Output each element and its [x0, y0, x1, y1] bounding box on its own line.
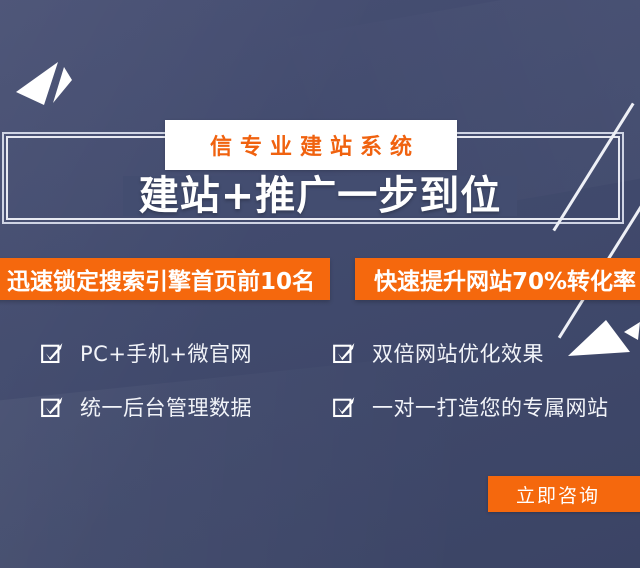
ribbon-secondary: 快速提升网站70%转化率 — [355, 258, 640, 300]
feature-label: 一对一打造您的专属网站 — [372, 392, 609, 422]
feature-label: 统一后台管理数据 — [80, 392, 252, 422]
subtitle-badge-label: 信专业建站系统 — [202, 129, 420, 161]
feature-item: 一对一打造您的专属网站 — [332, 390, 609, 424]
ribbon-group: 迅速锁定搜索引擎首页前10名 快速提升网站70%转化率 — [0, 258, 640, 300]
feature-item: 统一后台管理数据 — [40, 390, 252, 424]
feature-item: 双倍网站优化效果 — [332, 336, 544, 370]
feature-label: PC+手机+微官网 — [80, 338, 252, 368]
checkbox-checked-icon — [332, 395, 356, 419]
headline-container: 建站+推广一步到位 — [0, 176, 640, 216]
feature-item: PC+手机+微官网 — [40, 336, 252, 370]
consult-now-button[interactable]: 立即咨询 — [488, 476, 640, 512]
ribbon-secondary-label: 快速提升网站70%转化率 — [374, 262, 636, 296]
feature-label: 双倍网站优化效果 — [372, 338, 544, 368]
subtitle-badge: 信专业建站系统 — [165, 120, 457, 170]
checkbox-checked-icon — [40, 395, 64, 419]
checkbox-checked-icon — [40, 341, 64, 365]
consult-now-label: 立即咨询 — [516, 481, 600, 508]
paper-plane-top-left-icon — [14, 58, 78, 110]
ribbon-primary: 迅速锁定搜索引擎首页前10名 — [0, 258, 330, 300]
checkbox-checked-icon — [332, 341, 356, 365]
ribbon-primary-label: 迅速锁定搜索引擎首页前10名 — [7, 262, 315, 296]
promo-banner: 信专业建站系统 建站+推广一步到位 迅速锁定搜索引擎首页前10名 快速提升网站7… — [0, 0, 640, 568]
feature-list: PC+手机+微官网 双倍网站优化效果 统一后台管理数据 一对一打造您的专属网站 — [0, 330, 640, 430]
page-title: 建站+推广一步到位 — [123, 176, 518, 216]
